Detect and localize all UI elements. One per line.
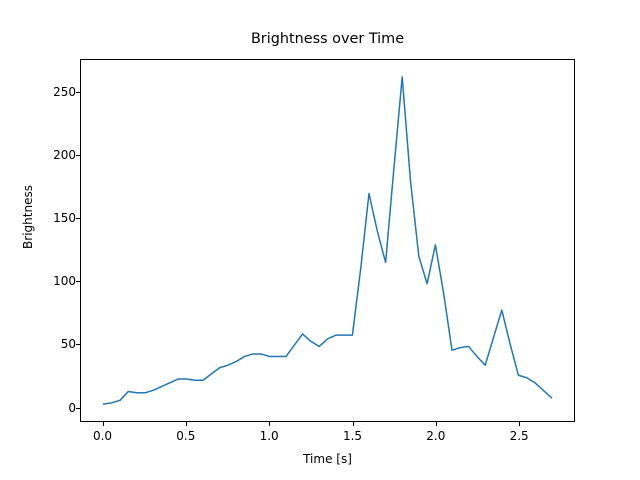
y-tick-label: 150	[30, 212, 76, 224]
y-tick-mark	[76, 218, 80, 219]
brightness-line-series	[103, 77, 551, 404]
chart-figure: Brightness over Time Brightness 05010015…	[0, 0, 640, 480]
y-tick-mark	[76, 344, 80, 345]
x-tick-label: 1.5	[323, 430, 383, 442]
x-axis-tick-labels: 0.00.51.01.52.02.5	[0, 424, 640, 444]
y-tick-mark	[76, 155, 80, 156]
x-axis-label: Time [s]	[80, 452, 575, 466]
y-tick-label: 200	[30, 149, 76, 161]
y-tick-label: 0	[30, 402, 76, 414]
x-tick-label: 2.0	[406, 430, 466, 442]
y-tick-mark	[76, 92, 80, 93]
x-tick-label: 0.0	[73, 430, 133, 442]
x-tick-label: 2.5	[489, 430, 549, 442]
y-tick-label: 250	[30, 86, 76, 98]
data-line-svg	[81, 60, 574, 421]
x-tick-label: 0.5	[156, 430, 216, 442]
x-tick-label: 1.0	[239, 430, 299, 442]
y-tick-label: 50	[30, 338, 76, 350]
plot-area	[80, 59, 575, 422]
y-tick-label: 100	[30, 275, 76, 287]
y-tick-mark	[76, 408, 80, 409]
y-tick-mark	[76, 281, 80, 282]
y-axis-tick-labels: 050100150200250	[22, 59, 76, 422]
chart-title: Brightness over Time	[80, 30, 575, 48]
